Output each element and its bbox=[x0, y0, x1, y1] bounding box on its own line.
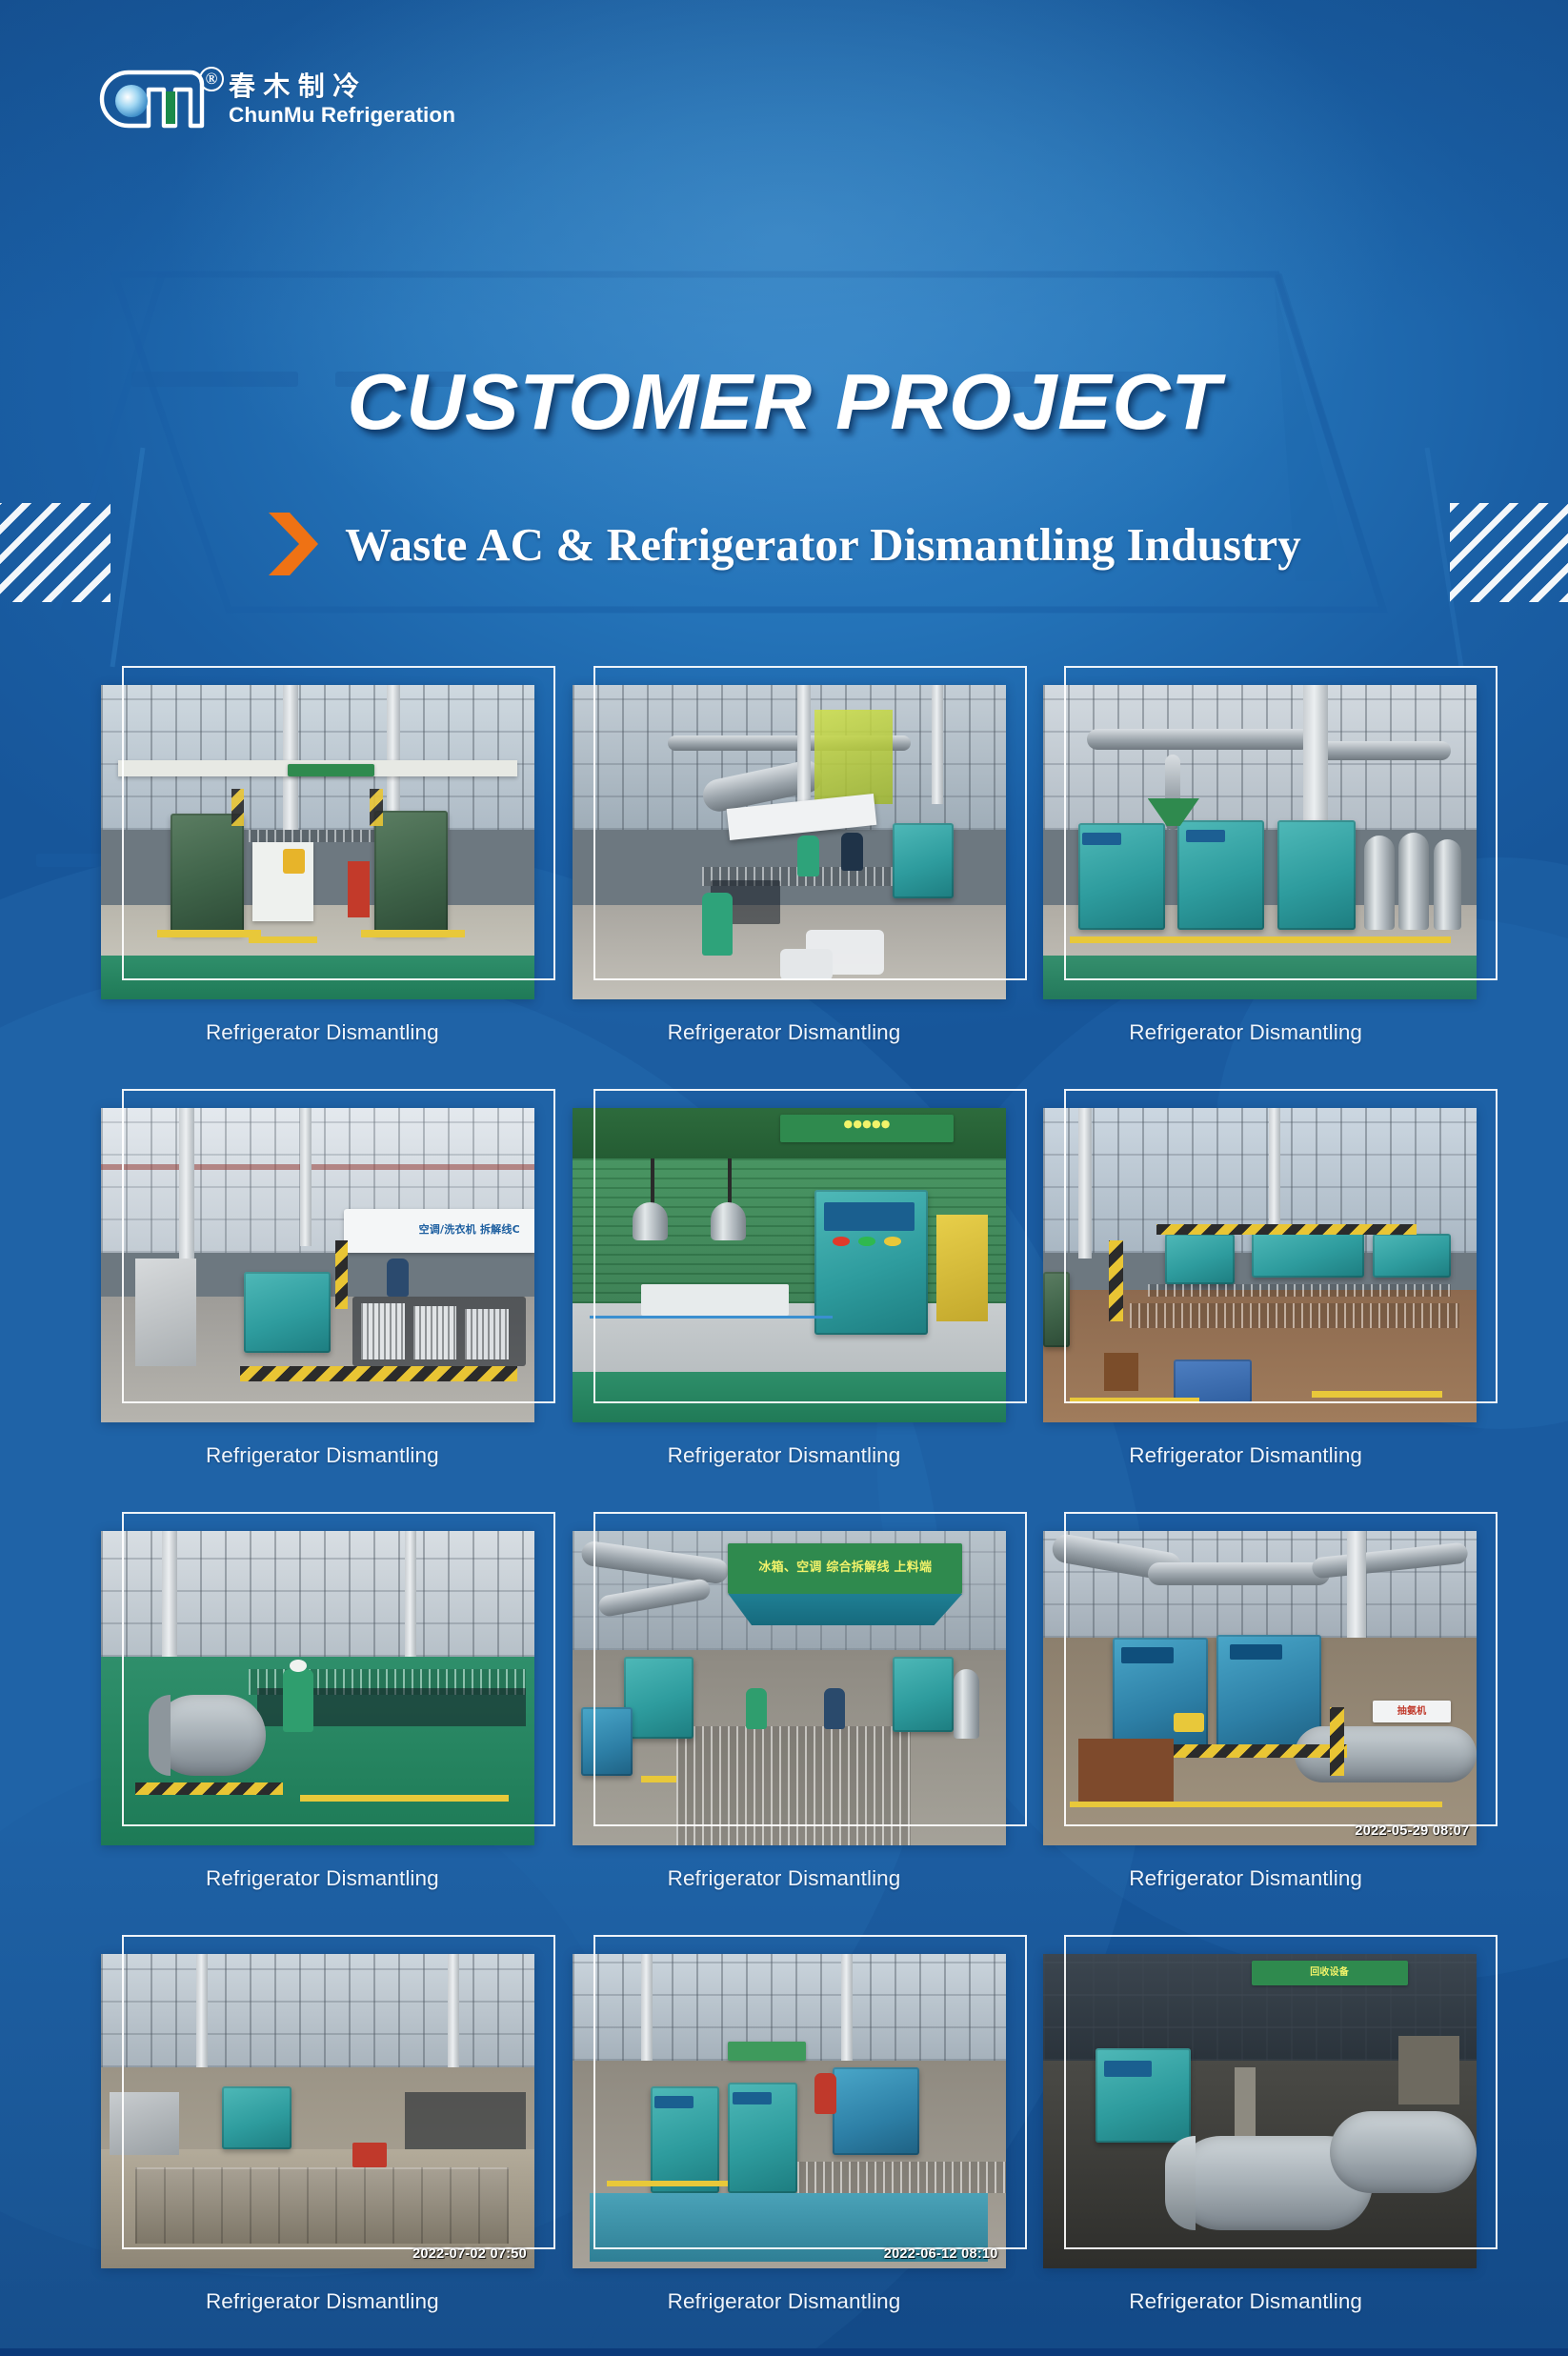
gallery-item[interactable]: 2022-06-12 08:10 Refrigerator Dismantlin… bbox=[553, 1933, 1015, 2356]
photo-combined-dismantle-line[interactable]: 冰箱、空调 综合拆解线 上料端 bbox=[573, 1531, 1006, 1845]
photo-workshop-table-teal-unit[interactable]: 2022-07-02 07:50 bbox=[101, 1954, 534, 2268]
photo-recovery-tanks-dark-hall[interactable]: 回收设备 bbox=[1043, 1954, 1477, 2268]
photo-teal-cabinets-ducting[interactable] bbox=[1043, 685, 1477, 999]
gallery-item[interactable]: Refrigerator Dismantling bbox=[91, 664, 553, 1087]
photo-timestamp: 2022-07-02 07:50 bbox=[412, 2246, 527, 2262]
gallery-item[interactable]: 冰箱、空调 综合拆解线 上料端 Refrigerator Dismantling bbox=[553, 1510, 1015, 1933]
cm-logo-mark-icon: ® bbox=[99, 70, 217, 129]
photo-caption: Refrigerator Dismantling bbox=[91, 1443, 553, 1468]
photo-evac-station-green-units[interactable] bbox=[101, 685, 534, 999]
photo-caption: Refrigerator Dismantling bbox=[1015, 2289, 1477, 2314]
photo-blue-units-ducting-hazard[interactable]: 抽氨机 2022-05-29 08:07 bbox=[1043, 1531, 1477, 1845]
photo-fridge-line-conveyor[interactable] bbox=[573, 685, 1006, 999]
gallery-item[interactable]: Refrigerator Dismantling bbox=[553, 664, 1015, 1087]
photo-caption: Refrigerator Dismantling bbox=[1015, 1866, 1477, 1891]
photo-sign-text: 回收设备 bbox=[1252, 1967, 1408, 1979]
photo-sign-text: 空调/洗衣机 拆解线C bbox=[413, 1224, 526, 1237]
photo-caption: Refrigerator Dismantling bbox=[553, 1443, 1015, 1468]
photo-caption: Refrigerator Dismantling bbox=[553, 1866, 1015, 1891]
brand-logo: ® 春木制冷 ChunMu Refrigeration bbox=[99, 70, 455, 129]
photo-caption: Refrigerator Dismantling bbox=[91, 1020, 553, 1045]
photo-caption: Refrigerator Dismantling bbox=[553, 2289, 1015, 2314]
photo-gallery: Refrigerator Dismantling bbox=[0, 664, 1568, 2356]
page-title: CUSTOMER PROJECT bbox=[0, 356, 1568, 448]
photo-timestamp: 2022-05-29 08:07 bbox=[1355, 1823, 1469, 1839]
gallery-item[interactable]: Refrigerator Dismantling bbox=[91, 1510, 553, 1933]
subtitle-row: Waste AC & Refrigerator Dismantling Indu… bbox=[0, 511, 1568, 577]
orange-chevron-right-icon bbox=[267, 511, 320, 577]
gallery-item[interactable]: Refrigerator Dismantling bbox=[1015, 1087, 1477, 1510]
photo-caption: Refrigerator Dismantling bbox=[553, 1020, 1015, 1045]
photo-worker-tank-green-floor[interactable] bbox=[101, 1531, 534, 1845]
gallery-item[interactable]: 抽氨机 2022-05-29 08:07 Refrigerator Disman… bbox=[1015, 1510, 1477, 1933]
photo-sign-text: 抽氨机 bbox=[1373, 1706, 1451, 1718]
photo-caption: Refrigerator Dismantling bbox=[91, 2289, 553, 2314]
photo-roller-line-blue-crate[interactable] bbox=[1043, 1108, 1477, 1422]
page-subtitle: Waste AC & Refrigerator Dismantling Indu… bbox=[345, 517, 1301, 572]
photo-green-wall-hanging-line[interactable]: ●●●●● bbox=[573, 1108, 1006, 1422]
brand-name-cn: 春木制冷 bbox=[229, 73, 455, 101]
gallery-item[interactable]: Refrigerator Dismantling bbox=[1015, 664, 1477, 1087]
gallery-item[interactable]: 回收设备 Refrigerator Dismantling bbox=[1015, 1933, 1477, 2356]
photo-caption: Refrigerator Dismantling bbox=[1015, 1443, 1477, 1468]
brand-name-en: ChunMu Refrigeration bbox=[229, 104, 455, 127]
registered-trademark-icon: ® bbox=[199, 67, 224, 91]
gallery-item[interactable]: 2022-07-02 07:50 Refrigerator Dismantlin… bbox=[91, 1933, 553, 2356]
photo-caption: Refrigerator Dismantling bbox=[91, 1866, 553, 1891]
photo-twin-cm-cabinets-line[interactable]: 2022-06-12 08:10 bbox=[573, 1954, 1006, 2268]
photo-caption: Refrigerator Dismantling bbox=[1015, 1020, 1477, 1045]
gallery-item[interactable]: 空调/洗衣机 拆解线C Refrigerator Dismantling bbox=[91, 1087, 553, 1510]
gallery-item[interactable]: ●●●●● Refrigerator Dismant bbox=[553, 1087, 1015, 1510]
photo-timestamp: 2022-06-12 08:10 bbox=[884, 2246, 998, 2262]
photo-sign-text: 冰箱、空调 综合拆解线 上料端 bbox=[728, 1561, 962, 1576]
photo-ac-washer-line-c[interactable]: 空调/洗衣机 拆解线C bbox=[101, 1108, 534, 1422]
